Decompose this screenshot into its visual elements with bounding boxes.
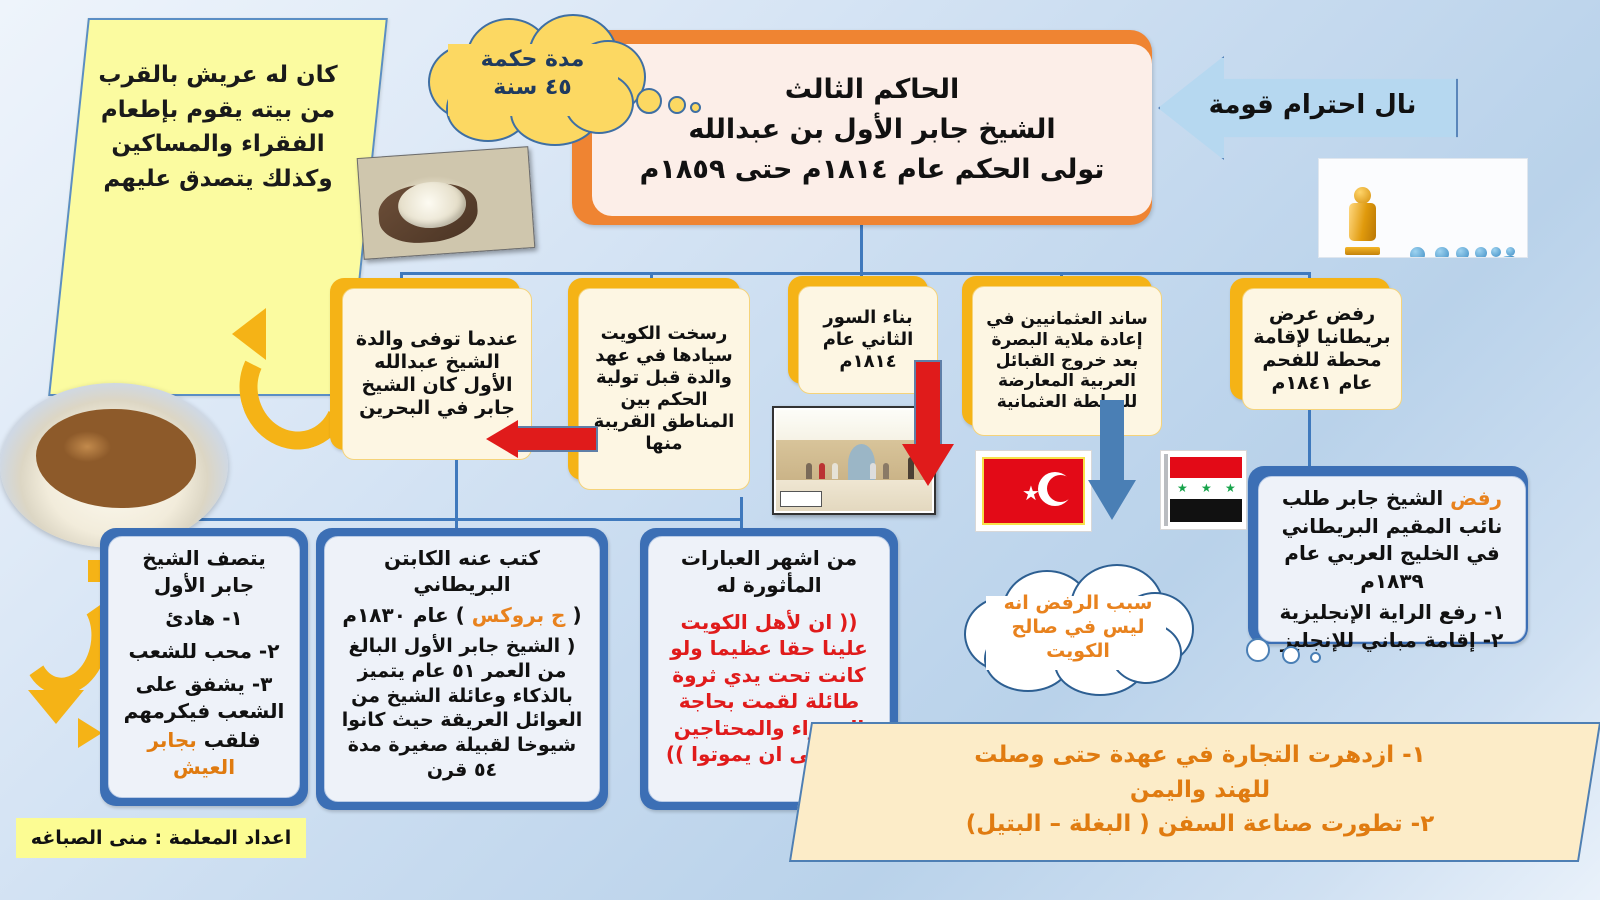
fact-card-text: ساند العثمانيين في إعادة ملاية البصرة بع…: [981, 309, 1153, 413]
leader-figures-image: [1318, 158, 1528, 258]
duration-cloud-text: مدة حكمة ٤٥ سنة: [440, 46, 625, 101]
refusal-bubble-medium: [1282, 646, 1300, 664]
red-arrow-left: [486, 420, 598, 458]
duration-cloud-bubble-medium: [668, 96, 686, 114]
refusal-reason-text: سبب الرفض انه ليس في صالح الكويت: [984, 592, 1172, 663]
red-arrow-down: [902, 360, 954, 486]
economy-banner-text: ١- ازدهرت التجارة في عهدة حتى وصلت للهند…: [840, 738, 1560, 842]
yellow-tab-traits-pointer: [78, 718, 102, 748]
fact-card-kuwait-sovereignty[interactable]: رسخت الكويت سيادها في عهد والدة قبل تولي…: [578, 288, 750, 490]
economy-line-1: ١- ازدهرت التجارة في عهدة حتى وصلت: [840, 738, 1560, 773]
title-card: الحاكم الثالث الشيخ جابر الأول بن عبدالل…: [592, 44, 1152, 216]
traits-item-3: ٣- يشفق على الشعب فيكرمهم: [119, 671, 289, 725]
captain-line-1: كتب عنه الكابتن البريطاني: [335, 545, 589, 598]
blue-arrow-down: [1088, 400, 1136, 520]
captain-paren-open: (: [572, 603, 581, 627]
connector-horizontal-main: [400, 272, 1308, 275]
teacher-credit-text: اعداد المعلمة : منى الصباغه: [31, 827, 291, 849]
economy-line-3: ٢- تطورت صناعة السفن ( البغلة – البتيل): [840, 807, 1560, 842]
fact-card-text: رفض عرض بريطانيا لإقامة محطة للفحم عام ١…: [1251, 303, 1393, 396]
economy-line-2: للهند واليمن: [840, 773, 1560, 808]
fact-card-text: عندما توفى والدة الشيخ عبدالله الأول كان…: [351, 328, 523, 421]
refusal-item-2: ٢- إقامة مباني للإنجليز: [1269, 627, 1515, 655]
food-plate-photo: [0, 383, 228, 548]
refusal-card[interactable]: رفض الشيخ جابر طلب نائب المقيم البريطاني…: [1258, 476, 1526, 642]
teacher-credit-box: اعداد المعلمة : منى الصباغه: [16, 818, 306, 858]
connector-lower-horizontal: [180, 518, 740, 521]
refusal-item-1: ١- رفع الراية الإنجليزية: [1269, 599, 1515, 627]
refusal-bubble-large: [1246, 638, 1270, 662]
traits-heading: يتصف الشيخ جابر الأول: [119, 545, 289, 599]
traits-item-2: ٢- محب للشعب: [119, 638, 289, 665]
respect-arrow-label: نال احترام قومة: [1180, 90, 1445, 120]
captain-paren-close: ) عام ١٨٣٠م: [342, 603, 464, 627]
traits-card[interactable]: يتصف الشيخ جابر الأول ١- هادئ ٢- محب للش…: [108, 536, 300, 798]
iraq-flag-image: ★★★: [1160, 450, 1247, 530]
duration-cloud-bubble-large: [636, 88, 662, 114]
duration-line-1: مدة حكمة: [440, 46, 625, 74]
connector-card1-down: [455, 455, 458, 520]
duration-cloud-bubble-small: [690, 102, 701, 113]
captain-quote: ( الشيخ جابر الأول البالغ من العمر ٥١ عا…: [335, 634, 589, 782]
fact-card-text: رسخت الكويت سيادها في عهد والدة قبل تولي…: [587, 323, 741, 455]
captain-card[interactable]: كتب عنه الكابتن البريطاني ( ج بروكس ) عا…: [324, 536, 600, 802]
refusal-highlight: رفض: [1450, 486, 1502, 510]
fact-card-refused-coal-station[interactable]: رفض عرض بريطانيا لإقامة محطة للفحم عام ١…: [1242, 288, 1402, 410]
yellow-arrow-head-to-traits: [28, 690, 84, 724]
famous-quote-heading: من اشهر العبارات المأثورة له: [659, 545, 879, 599]
title-line-2: الشيخ جابر الأول بن عبدالله: [688, 113, 1055, 147]
connector-title-down: [860, 222, 863, 274]
yellow-arrow-head-to-note: [232, 308, 266, 360]
refusal-reason-cloud: سبب الرفض انه ليس في صالح الكويت: [958, 562, 1198, 692]
refusal-bubble-small: [1310, 652, 1321, 663]
title-line-3: تولى الحكم عام ١٨١٤م حتى ١٨٥٩م: [640, 153, 1105, 187]
duration-cloud: مدة حكمة ٤٥ سنة: [418, 14, 643, 144]
charity-note-text: كان له عريش بالقرب من بيته يقوم بإطعام ا…: [78, 58, 358, 196]
traits-item-1: ١- هادئ: [119, 605, 289, 632]
duration-line-2: ٤٥ سنة: [440, 74, 625, 102]
rice-in-hand-photo: [357, 146, 536, 260]
title-line-1: الحاكم الثالث: [785, 73, 960, 107]
captain-name-highlight: ج بروكس: [472, 603, 566, 627]
traits-nickname-prefix: فلقب: [204, 728, 261, 752]
turkey-flag-image: ★: [975, 450, 1092, 532]
